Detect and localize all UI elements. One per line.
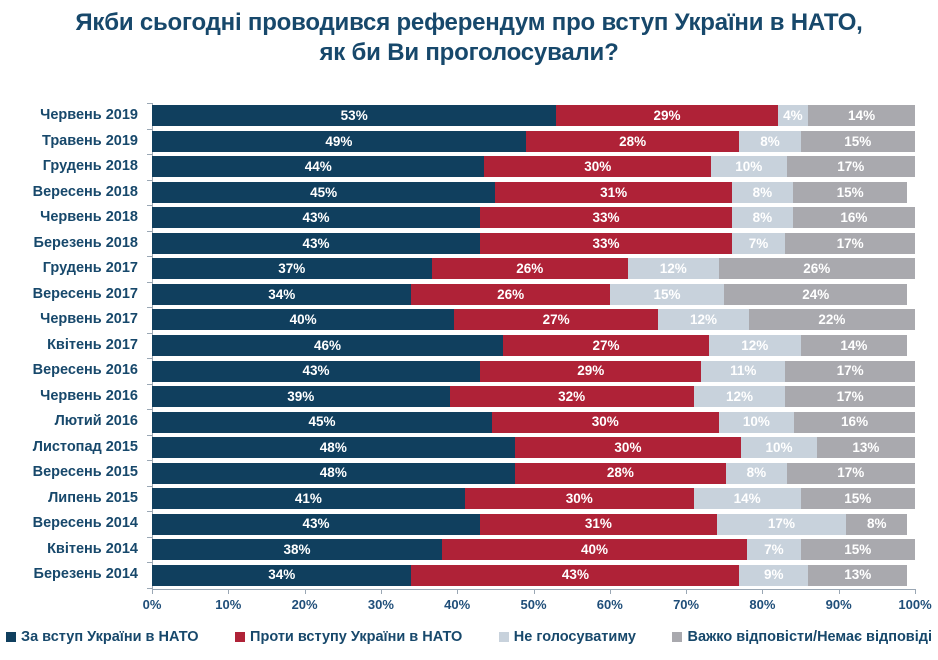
bar-segment-: 10% — [719, 412, 795, 433]
bar-segment-: 16% — [793, 207, 915, 228]
bar-value-label: 17% — [837, 237, 864, 251]
bar-value-label: 10% — [735, 160, 762, 174]
bar-value-label: 31% — [600, 186, 627, 200]
bar-row: 45%30%10%16% — [152, 412, 915, 433]
x-axis-tick — [686, 589, 687, 594]
category-label: Червень 2018 — [40, 205, 138, 231]
bar-row: 34%43%9%13% — [152, 565, 915, 586]
bar-segment-: 8% — [726, 463, 786, 484]
bar-segment-: 17% — [785, 361, 915, 382]
bar-segment-: 45% — [152, 412, 492, 433]
bar-value-label: 31% — [585, 517, 612, 531]
bar-segment-: 15% — [801, 488, 915, 509]
x-axis-label: 30% — [368, 597, 394, 612]
bar-value-label: 30% — [592, 415, 619, 429]
bar-value-label: 8% — [753, 186, 773, 200]
bar-segment-: 4% — [778, 105, 809, 126]
bar-value-label: 38% — [283, 543, 310, 557]
y-axis-tick — [147, 435, 152, 436]
bar-value-label: 4% — [783, 109, 803, 123]
bar-segment-: 45% — [152, 182, 495, 203]
bar-segment-: 30% — [515, 437, 742, 458]
x-axis-tick — [381, 589, 382, 594]
bar-segment-: 43% — [152, 361, 480, 382]
bar-segment-: 30% — [465, 488, 694, 509]
bar-row: 40%27%12%22% — [152, 309, 915, 330]
bar-segment-: 48% — [152, 463, 515, 484]
bar-row: 45%31%8%15% — [152, 182, 915, 203]
y-axis-tick — [147, 103, 152, 104]
bar-segment-: 7% — [732, 233, 785, 254]
y-axis-tick — [147, 154, 152, 155]
bar-segment-: 8% — [846, 514, 907, 535]
bar-value-label: 13% — [844, 568, 871, 582]
x-axis-tick — [839, 589, 840, 594]
bar-row: 43%33%7%17% — [152, 233, 915, 254]
bar-segment-: 26% — [411, 284, 609, 305]
category-label: Березень 2018 — [34, 231, 138, 257]
bar-value-label: 48% — [320, 466, 347, 480]
bar-segment-: 8% — [732, 182, 793, 203]
bar-value-label: 43% — [303, 517, 330, 531]
y-axis-tick — [147, 358, 152, 359]
category-label: Квітень 2017 — [47, 333, 138, 359]
x-axis-tick — [915, 589, 916, 594]
category-label: Червень 2016 — [40, 384, 138, 410]
bar-value-label: 43% — [303, 237, 330, 251]
bar-row: 43%33%8%16% — [152, 207, 915, 228]
bar-value-label: 53% — [341, 109, 368, 123]
bar-segment-: 27% — [503, 335, 709, 356]
bar-segment-: 31% — [480, 514, 717, 535]
bar-segment-: 41% — [152, 488, 465, 509]
bar-value-label: 27% — [592, 339, 619, 353]
bar-value-label: 24% — [802, 288, 829, 302]
bar-value-label: 28% — [607, 466, 634, 480]
bar-value-label: 27% — [543, 313, 570, 327]
bar-value-label: 28% — [619, 135, 646, 149]
x-axis-label: 40% — [444, 597, 470, 612]
bar-segment-: 43% — [152, 207, 480, 228]
bar-segment-: 17% — [717, 514, 847, 535]
legend-swatch-icon — [6, 632, 16, 642]
bar-segment-: 22% — [749, 309, 915, 330]
bar-value-label: 34% — [268, 288, 295, 302]
bar-segment-: 28% — [526, 131, 740, 152]
bar-value-label: 7% — [749, 237, 769, 251]
bar-value-label: 13% — [852, 441, 879, 455]
y-axis-tick — [147, 511, 152, 512]
bar-value-label: 30% — [566, 492, 593, 506]
bar-segment-: 30% — [484, 156, 711, 177]
bar-value-label: 17% — [768, 517, 795, 531]
x-axis-label: 90% — [826, 597, 852, 612]
bar-row: 43%31%17%8% — [152, 514, 915, 535]
bar-segment-: 29% — [556, 105, 777, 126]
y-axis-tick — [147, 307, 152, 308]
bar-value-label: 12% — [741, 339, 768, 353]
x-axis-label: 100% — [898, 597, 931, 612]
bar-segment-: 17% — [787, 463, 915, 484]
bar-segment-: 32% — [450, 386, 694, 407]
bar-row: 46%27%12%14% — [152, 335, 915, 356]
bar-segment-: 12% — [709, 335, 801, 356]
bar-segment-: 15% — [801, 131, 915, 152]
bar-segment-: 26% — [719, 258, 915, 279]
page-title: Якби сьогодні проводився референдум про … — [0, 8, 938, 68]
bar-row: 53%29%4%14% — [152, 105, 915, 126]
bar-segment-: 29% — [480, 361, 701, 382]
category-label: Вересень 2018 — [33, 180, 138, 206]
bar-value-label: 8% — [747, 466, 767, 480]
y-axis-tick — [147, 537, 152, 538]
bar-segment-: 40% — [442, 539, 747, 560]
category-label: Грудень 2018 — [43, 154, 138, 180]
bar-value-label: 43% — [303, 211, 330, 225]
bar-value-label: 34% — [268, 568, 295, 582]
legend-label: Проти вступу України в НАТО — [250, 630, 462, 645]
bar-segment-: 46% — [152, 335, 503, 356]
bar-value-label: 17% — [837, 466, 864, 480]
bar-value-label: 15% — [837, 186, 864, 200]
bar-segment-: 14% — [694, 488, 801, 509]
bar-value-label: 26% — [803, 262, 830, 276]
bar-value-label: 26% — [497, 288, 524, 302]
bar-value-label: 11% — [730, 364, 756, 378]
bar-value-label: 8% — [760, 135, 780, 149]
bar-segment-: 9% — [739, 565, 808, 586]
category-axis-labels: Червень 2019Травень 2019Грудень 2018Вере… — [0, 103, 146, 588]
bar-segment-: 17% — [785, 386, 915, 407]
x-axis-tick — [152, 589, 153, 594]
bar-segment-: 34% — [152, 565, 411, 586]
category-label: Червень 2017 — [40, 307, 138, 333]
bar-row: 38%40%7%15% — [152, 539, 915, 560]
bar-value-label: 9% — [764, 568, 784, 582]
bar-segment-: 28% — [515, 463, 727, 484]
bar-row: 48%28%8%17% — [152, 463, 915, 484]
bar-row: 48%30%10%13% — [152, 437, 915, 458]
bar-segment-: 10% — [741, 437, 817, 458]
legend-item-for[interactable]: За вступ України в НАТО — [6, 630, 198, 645]
bar-value-label: 29% — [653, 109, 680, 123]
bar-segment-: 17% — [785, 233, 915, 254]
bar-row: 39%32%12%17% — [152, 386, 915, 407]
category-label: Вересень 2015 — [33, 460, 138, 486]
x-axis-label: 60% — [597, 597, 623, 612]
bar-segment-: 12% — [694, 386, 786, 407]
bar-segment-: 10% — [711, 156, 787, 177]
bar-value-label: 12% — [726, 390, 753, 404]
x-axis-tick — [534, 589, 535, 594]
bar-segment-: 33% — [480, 207, 732, 228]
bar-segment-: 8% — [739, 131, 800, 152]
bar-value-label: 37% — [278, 262, 305, 276]
bar-row: 49%28%8%15% — [152, 131, 915, 152]
bar-value-label: 15% — [653, 288, 680, 302]
bar-value-label: 12% — [660, 262, 687, 276]
bar-value-label: 48% — [320, 441, 347, 455]
bar-value-label: 49% — [325, 135, 352, 149]
category-label: Травень 2019 — [42, 129, 138, 155]
category-label: Грудень 2017 — [43, 256, 138, 282]
category-label: Липень 2015 — [48, 486, 138, 512]
bar-row: 37%26%12%26% — [152, 258, 915, 279]
bar-segment-: 43% — [152, 514, 480, 535]
bar-value-label: 15% — [844, 492, 871, 506]
bar-segment-: 15% — [610, 284, 724, 305]
category-label: Березень 2014 — [34, 562, 138, 588]
bar-value-label: 17% — [837, 390, 864, 404]
bar-segment-: 44% — [152, 156, 484, 177]
bar-segment-: 43% — [411, 565, 739, 586]
chart-page: Якби сьогодні проводився референдум про … — [0, 0, 938, 660]
bar-segment-: 30% — [492, 412, 719, 433]
bar-row: 34%26%15%24% — [152, 284, 915, 305]
bar-value-label: 40% — [581, 543, 608, 557]
bar-value-label: 40% — [290, 313, 317, 327]
bar-value-label: 14% — [840, 339, 867, 353]
bar-segment-: 39% — [152, 386, 450, 407]
bar-segment-: 13% — [817, 437, 915, 458]
bar-value-label: 12% — [690, 313, 717, 327]
bar-segment-: 8% — [732, 207, 793, 228]
bar-segment-: 17% — [787, 156, 915, 177]
y-axis-tick — [147, 129, 152, 130]
bar-segment-: 14% — [801, 335, 908, 356]
bar-value-label: 32% — [558, 390, 585, 404]
bar-value-label: 45% — [310, 186, 337, 200]
bar-segment-: 34% — [152, 284, 411, 305]
chart-legend: За вступ України в НАТОПроти вступу Укра… — [6, 630, 932, 645]
x-axis-label: 70% — [673, 597, 699, 612]
bar-value-label: 30% — [584, 160, 611, 174]
legend-item-hard-to-say[interactable]: Важко відповісти/Немає відповіді — [672, 630, 932, 645]
bar-value-label: 29% — [577, 364, 604, 378]
bar-value-label: 26% — [516, 262, 543, 276]
bar-value-label: 33% — [592, 237, 619, 251]
x-axis-tick — [228, 589, 229, 594]
category-label: Квітень 2014 — [47, 537, 138, 563]
bar-segment-: 24% — [724, 284, 907, 305]
x-axis-label: 0% — [143, 597, 162, 612]
bar-value-label: 45% — [308, 415, 335, 429]
legend-swatch-icon — [499, 632, 509, 642]
bar-value-label: 7% — [764, 543, 784, 557]
y-axis-tick — [147, 409, 152, 410]
x-axis-tick — [762, 589, 763, 594]
bar-value-label: 39% — [287, 390, 314, 404]
bar-value-label: 10% — [743, 415, 770, 429]
category-label: Червень 2019 — [40, 103, 138, 129]
legend-item-will-not-vote[interactable]: Не голосуватиму — [499, 630, 636, 645]
bar-value-label: 14% — [848, 109, 875, 123]
category-label: Листопад 2015 — [33, 435, 138, 461]
bar-segment-: 53% — [152, 105, 556, 126]
bar-segment-: 48% — [152, 437, 515, 458]
bar-segment-: 16% — [794, 412, 915, 433]
category-label: Вересень 2017 — [33, 282, 138, 308]
legend-swatch-icon — [672, 632, 682, 642]
bar-segment-: 7% — [747, 539, 800, 560]
bar-segment-: 26% — [432, 258, 628, 279]
bar-value-label: 22% — [818, 313, 845, 327]
y-axis-tick — [147, 231, 152, 232]
x-axis-label: 80% — [749, 597, 775, 612]
bar-segment-: 12% — [658, 309, 749, 330]
y-axis-tick — [147, 562, 152, 563]
y-axis-tick — [147, 460, 152, 461]
bar-value-label: 10% — [766, 441, 793, 455]
legend-item-against[interactable]: Проти вступу України в НАТО — [235, 630, 462, 645]
x-axis: 0%10%20%30%40%50%60%70%80%90%100% — [152, 589, 915, 590]
y-axis-tick — [147, 256, 152, 257]
legend-label: Не голосуватиму — [514, 630, 636, 645]
bar-value-label: 8% — [753, 211, 773, 225]
bar-segment-: 40% — [152, 309, 454, 330]
legend-label: За вступ України в НАТО — [21, 630, 198, 645]
bar-value-label: 16% — [841, 415, 868, 429]
plot-area: 53%29%4%14%49%28%8%15%44%30%10%17%45%31%… — [152, 103, 915, 588]
x-axis-label: 20% — [292, 597, 318, 612]
bar-segment-: 15% — [793, 182, 907, 203]
bar-value-label: 15% — [844, 135, 871, 149]
bar-value-label: 41% — [295, 492, 322, 506]
x-axis-tick — [610, 589, 611, 594]
legend-swatch-icon — [235, 632, 245, 642]
legend-label: Важко відповісти/Немає відповіді — [687, 630, 932, 645]
x-axis-label: 10% — [215, 597, 241, 612]
bar-segment-: 12% — [628, 258, 719, 279]
bar-value-label: 43% — [303, 364, 330, 378]
bar-value-label: 30% — [614, 441, 641, 455]
x-axis-label: 50% — [520, 597, 546, 612]
bar-row: 44%30%10%17% — [152, 156, 915, 177]
bar-segment-: 38% — [152, 539, 442, 560]
bar-value-label: 8% — [867, 517, 887, 531]
y-axis-tick — [147, 333, 152, 334]
bar-segment-: 11% — [701, 361, 785, 382]
bar-row: 43%29%11%17% — [152, 361, 915, 382]
y-axis-tick — [147, 180, 152, 181]
bar-value-label: 16% — [840, 211, 867, 225]
category-label: Вересень 2014 — [33, 511, 138, 537]
bar-value-label: 33% — [592, 211, 619, 225]
bar-segment-: 31% — [495, 182, 732, 203]
bar-segment-: 43% — [152, 233, 480, 254]
bar-value-label: 14% — [734, 492, 761, 506]
bar-segment-: 33% — [480, 233, 732, 254]
y-axis-tick — [147, 384, 152, 385]
bar-segment-: 37% — [152, 258, 432, 279]
bar-value-label: 17% — [837, 364, 864, 378]
y-axis-tick — [147, 282, 152, 283]
bar-segment-: 49% — [152, 131, 526, 152]
bar-segment-: 27% — [454, 309, 658, 330]
x-axis-tick — [305, 589, 306, 594]
bar-segment-: 14% — [808, 105, 915, 126]
bar-value-label: 43% — [562, 568, 589, 582]
bar-segment-: 13% — [808, 565, 907, 586]
bar-row: 41%30%14%15% — [152, 488, 915, 509]
bar-value-label: 17% — [837, 160, 864, 174]
y-axis-tick — [147, 486, 152, 487]
bar-value-label: 46% — [314, 339, 341, 353]
category-label: Вересень 2016 — [33, 358, 138, 384]
y-axis-tick — [147, 205, 152, 206]
category-label: Лютий 2016 — [55, 409, 138, 435]
bar-value-label: 15% — [844, 543, 871, 557]
bar-segment-: 15% — [801, 539, 915, 560]
x-axis-tick — [457, 589, 458, 594]
bar-value-label: 44% — [305, 160, 332, 174]
